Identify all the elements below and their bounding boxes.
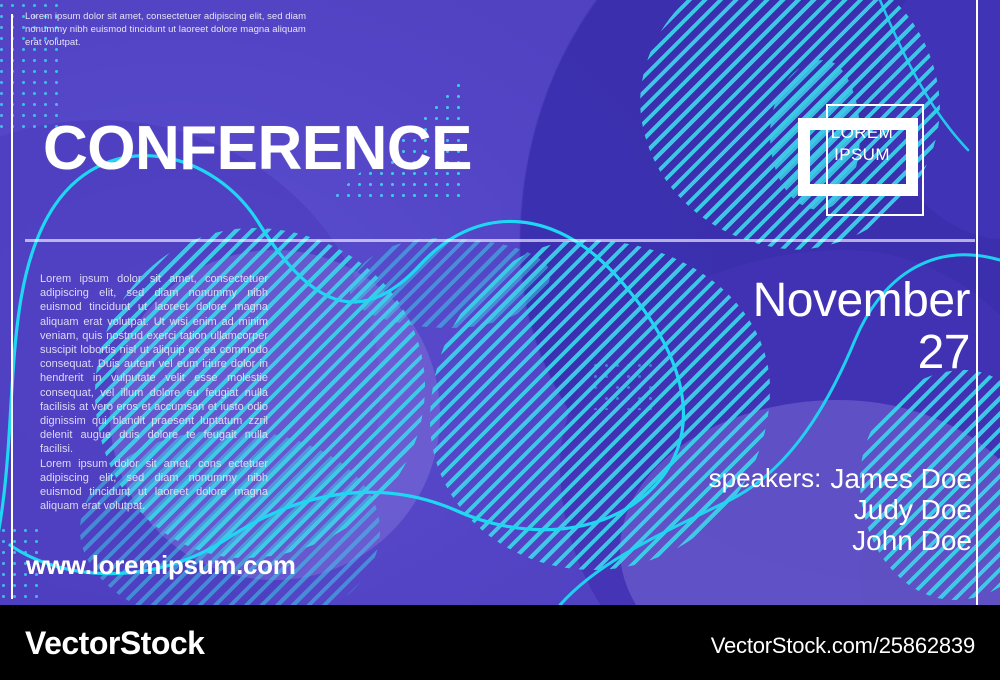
watermark-footer: VectorStock VectorStock.com/25862839 xyxy=(0,605,1000,680)
event-day: 27 xyxy=(490,327,970,379)
poster-canvas: Lorem ipsum dolor sit amet, consectetuer… xyxy=(0,0,1000,605)
speaker-name: James Doe xyxy=(830,463,972,494)
page-title: CONFERENCE xyxy=(43,117,472,181)
body-paragraph-2: Lorem ipsum dolor sit amet, cons ectetue… xyxy=(40,457,268,514)
frame-right-rule xyxy=(976,0,978,605)
vectorstock-reference: VectorStock.com/25862839 xyxy=(711,633,975,659)
speakers-block: speakers: James Doe Judy Doe John Doe xyxy=(412,463,972,556)
speakers-names: James Doe Judy Doe John Doe xyxy=(830,463,972,556)
logo-text-line-1: LOREM xyxy=(798,122,926,144)
logo-text-line-2: IPSUM xyxy=(798,144,926,166)
speaker-name: John Doe xyxy=(830,525,972,556)
frame-horizontal-rule xyxy=(25,239,975,242)
website-url[interactable]: www.loremipsum.com xyxy=(26,550,296,581)
event-month: November xyxy=(490,275,970,327)
body-paragraph-1: Lorem ipsum dolor sit amet, consectetuer… xyxy=(40,272,268,457)
speaker-name: Judy Doe xyxy=(830,494,972,525)
event-date: November 27 xyxy=(490,275,970,379)
vectorstock-brand: VectorStock xyxy=(25,625,204,662)
speakers-label: speakers: xyxy=(709,463,822,494)
frame-left-rule xyxy=(11,14,13,599)
body-copy: Lorem ipsum dolor sit amet, consectetuer… xyxy=(40,272,268,513)
logo-text: LOREM IPSUM xyxy=(798,122,926,166)
logo-mark: LOREM IPSUM xyxy=(798,98,926,220)
screenshot-root: Lorem ipsum dolor sit amet, consectetuer… xyxy=(0,0,1000,680)
intro-paragraph: Lorem ipsum dolor sit amet, consectetuer… xyxy=(25,10,310,49)
